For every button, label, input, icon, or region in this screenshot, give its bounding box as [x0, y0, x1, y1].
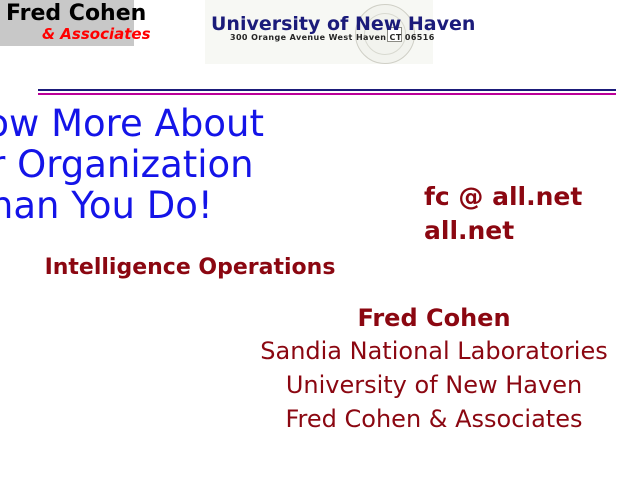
fred-cohen-logo-tagline: & Associates	[42, 25, 151, 43]
university-logo-address: 300 Orange Avenue West Haven CT 06516	[230, 33, 435, 42]
divider-rule-top	[38, 89, 616, 91]
author-affiliation-3: Fred Cohen & Associates	[230, 402, 638, 436]
author-block: Fred Cohen Sandia National Laboratories …	[230, 303, 638, 436]
slide-subtitle: Intelligence Operations	[0, 255, 380, 280]
author-name: Fred Cohen	[230, 303, 638, 334]
author-affiliation-2: University of New Haven	[230, 368, 638, 402]
slide-title-line-3: Than You Do!	[0, 185, 370, 226]
divider-rule-bottom	[38, 93, 616, 95]
presentation-slide: Fred Cohen & Associates University of Ne…	[0, 0, 640, 480]
fred-cohen-logo-name: Fred Cohen	[6, 1, 146, 26]
slide-title-line-2: Your Organization	[0, 144, 370, 185]
slide-title-line-1: I Know More About	[0, 103, 370, 144]
author-affiliation-1: Sandia National Laboratories	[230, 334, 638, 368]
contact-website: all.net	[424, 214, 582, 248]
slide-title: I Know More About Your Organization Than…	[0, 103, 370, 226]
contact-block: fc @ all.net all.net	[424, 180, 582, 248]
contact-email: fc @ all.net	[424, 180, 582, 214]
university-logo-name: University of New Haven	[211, 13, 475, 35]
